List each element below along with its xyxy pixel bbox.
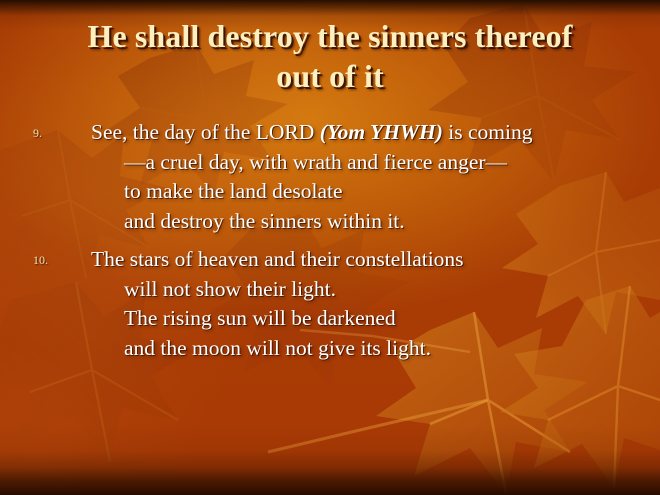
verse-text: to make the land desolate bbox=[124, 179, 343, 203]
verse-text: and the moon will not give its light. bbox=[124, 336, 431, 360]
verse-line: will not show their light. bbox=[91, 275, 646, 305]
verse-line: —a cruel day, with wrath and fierce ange… bbox=[91, 148, 646, 178]
verse-number-marker: 10. bbox=[33, 254, 67, 266]
presentation-slide: He shall destroy the sinners thereof out… bbox=[0, 0, 660, 495]
verse-line: and destroy the sinners within it. bbox=[91, 207, 646, 237]
verse-line: The rising sun will be darkened bbox=[91, 304, 646, 334]
verse-block: 10.The stars of heaven and their constel… bbox=[0, 245, 660, 363]
verse-line-list: The stars of heaven and their constellat… bbox=[0, 245, 660, 363]
verse-text: is coming bbox=[443, 120, 533, 144]
verse-block: 9.See, the day of the LORD (Yom YHWH) is… bbox=[0, 118, 660, 236]
verse-text: The stars of heaven and their constellat… bbox=[91, 247, 464, 271]
slide-title-line-1: He shall destroy the sinners thereof bbox=[87, 18, 572, 54]
verse-text: and destroy the sinners within it. bbox=[124, 209, 405, 233]
verse-number-marker: 9. bbox=[33, 127, 67, 139]
slide-title: He shall destroy the sinners thereof out… bbox=[24, 16, 636, 96]
verse-line-list: See, the day of the LORD (Yom YHWH) is c… bbox=[0, 118, 660, 236]
verse-text: —a cruel day, with wrath and fierce ange… bbox=[124, 150, 507, 174]
verse-text: will not show their light. bbox=[124, 277, 336, 301]
verse-text: The rising sun will be darkened bbox=[124, 306, 396, 330]
scripture-body: 9.See, the day of the LORD (Yom YHWH) is… bbox=[0, 118, 660, 372]
verse-line: to make the land desolate bbox=[91, 177, 646, 207]
emphasized-term: (Yom YHWH) bbox=[320, 120, 443, 144]
verse-line: The stars of heaven and their constellat… bbox=[91, 245, 646, 275]
slide-title-line-2: out of it bbox=[276, 58, 384, 94]
verse-line: See, the day of the LORD (Yom YHWH) is c… bbox=[91, 118, 646, 148]
verse-line: and the moon will not give its light. bbox=[91, 334, 646, 364]
verse-text: See, the day of the LORD bbox=[91, 120, 320, 144]
